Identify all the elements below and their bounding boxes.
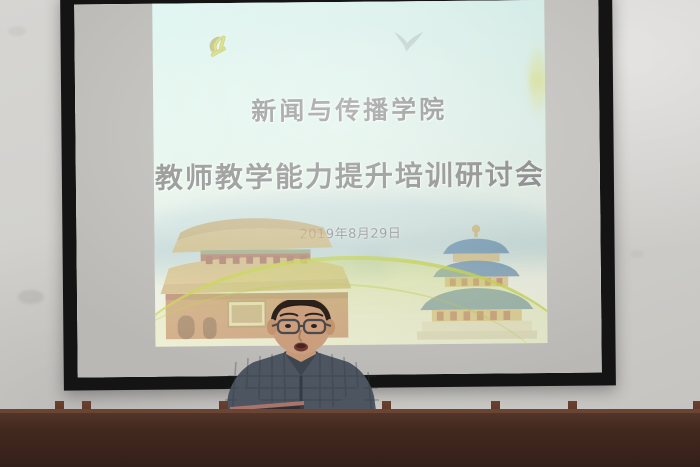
hammer-sickle-emblem-icon (203, 29, 237, 63)
projected-slide: 新闻与传播学院 教师教学能力提升培训研讨会 2019年8月29日 (152, 0, 547, 347)
photo-scene: 新闻与传播学院 教师教学能力提升培训研讨会 2019年8月29日 (0, 0, 700, 467)
slide-subtitle: 教师教学能力提升培训研讨会 (154, 153, 546, 197)
flying-bird-icon (392, 29, 426, 55)
slide-title: 新闻与传播学院 (153, 89, 545, 129)
front-desk (0, 409, 700, 467)
